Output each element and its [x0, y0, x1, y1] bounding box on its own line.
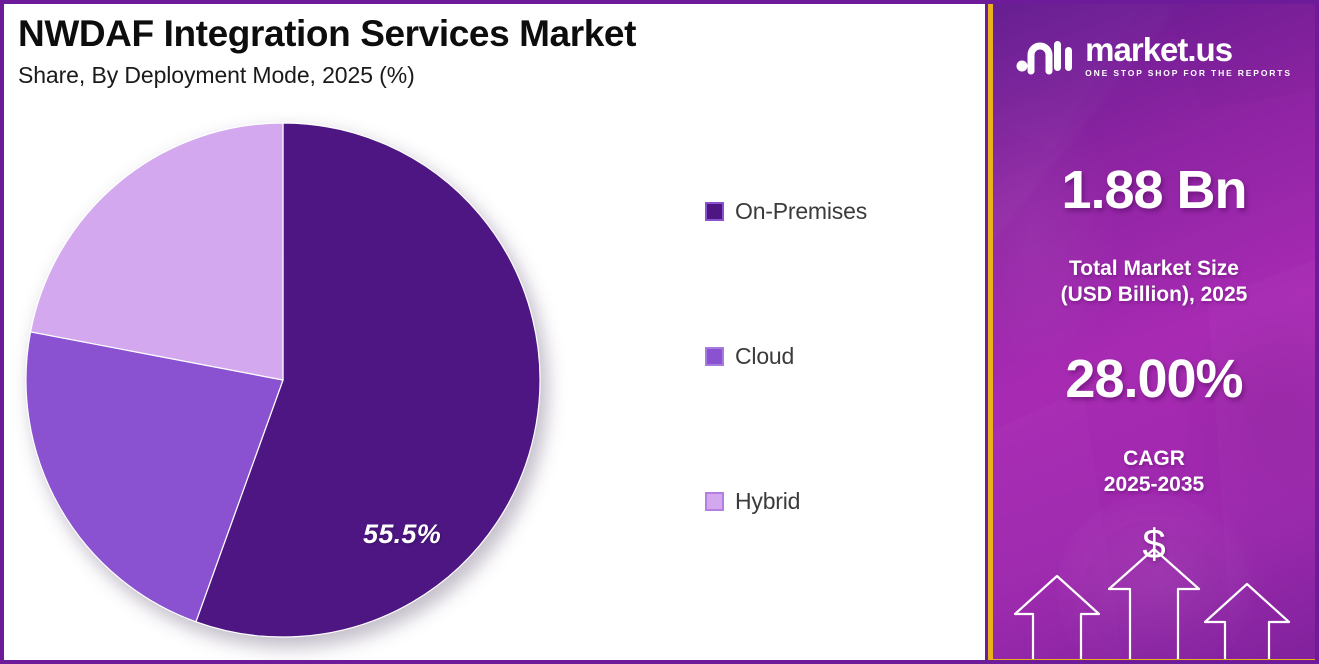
cagr-caption-line1: CAGR — [993, 446, 1315, 472]
growth-arrows-group: $ — [993, 504, 1315, 664]
title-block: NWDAF Integration Services Market Share,… — [18, 14, 958, 89]
legend: On-Premises Cloud Hybrid — [705, 196, 965, 516]
page-title: NWDAF Integration Services Market — [18, 14, 958, 53]
legend-item-hybrid[interactable]: Hybrid — [705, 486, 965, 516]
logo-tagline: ONE STOP SHOP FOR THE REPORTS — [1085, 69, 1292, 78]
market-size-caption-line1: Total Market Size — [993, 256, 1315, 282]
up-arrow-icon-left — [1015, 576, 1099, 664]
legend-item-cloud[interactable]: Cloud — [705, 341, 965, 371]
pie-svg — [24, 121, 542, 639]
stats-panel: market.us ONE STOP SHOP FOR THE REPORTS … — [993, 0, 1315, 664]
pie-chart: 55.5% — [24, 121, 542, 639]
up-arrow-icon-right — [1205, 584, 1289, 664]
pie-slice-label-on-premises: 55.5% — [363, 519, 441, 550]
legend-swatch-cloud — [705, 347, 724, 366]
infographic-root: NWDAF Integration Services Market Share,… — [0, 0, 1319, 664]
cagr-caption: CAGR 2025-2035 — [993, 446, 1315, 499]
chart-pane: NWDAF Integration Services Market Share,… — [0, 0, 988, 664]
legend-label-cloud: Cloud — [735, 345, 794, 368]
market-size-value: 1.88 Bn — [993, 163, 1315, 217]
brand-logo[interactable]: market.us ONE STOP SHOP FOR THE REPORTS — [993, 33, 1315, 78]
cagr-caption-line2: 2025-2035 — [993, 472, 1315, 498]
panel-content: market.us ONE STOP SHOP FOR THE REPORTS … — [993, 0, 1315, 664]
cagr-value: 28.00% — [993, 352, 1315, 406]
market-size-caption-line2: (USD Billion), 2025 — [993, 282, 1315, 308]
legend-swatch-hybrid — [705, 492, 724, 511]
pane-divider-gold — [988, 0, 993, 664]
growth-arrows-svg — [993, 504, 1315, 664]
legend-label-on-premises: On-Premises — [735, 200, 867, 223]
pie-slices — [24, 121, 542, 639]
market-us-logo-icon — [1016, 33, 1074, 77]
legend-item-on-premises[interactable]: On-Premises — [705, 196, 965, 226]
legend-label-hybrid: Hybrid — [735, 490, 800, 513]
page-subtitle: Share, By Deployment Mode, 2025 (%) — [18, 62, 958, 89]
legend-swatch-on-premises — [705, 202, 724, 221]
logo-wordmark: market.us — [1085, 33, 1292, 66]
up-arrow-icon-center — [1109, 549, 1199, 664]
panel-bottom-gold-line — [993, 659, 1315, 664]
logo-text-block: market.us ONE STOP SHOP FOR THE REPORTS — [1085, 33, 1292, 78]
market-size-caption: Total Market Size (USD Billion), 2025 — [993, 256, 1315, 309]
